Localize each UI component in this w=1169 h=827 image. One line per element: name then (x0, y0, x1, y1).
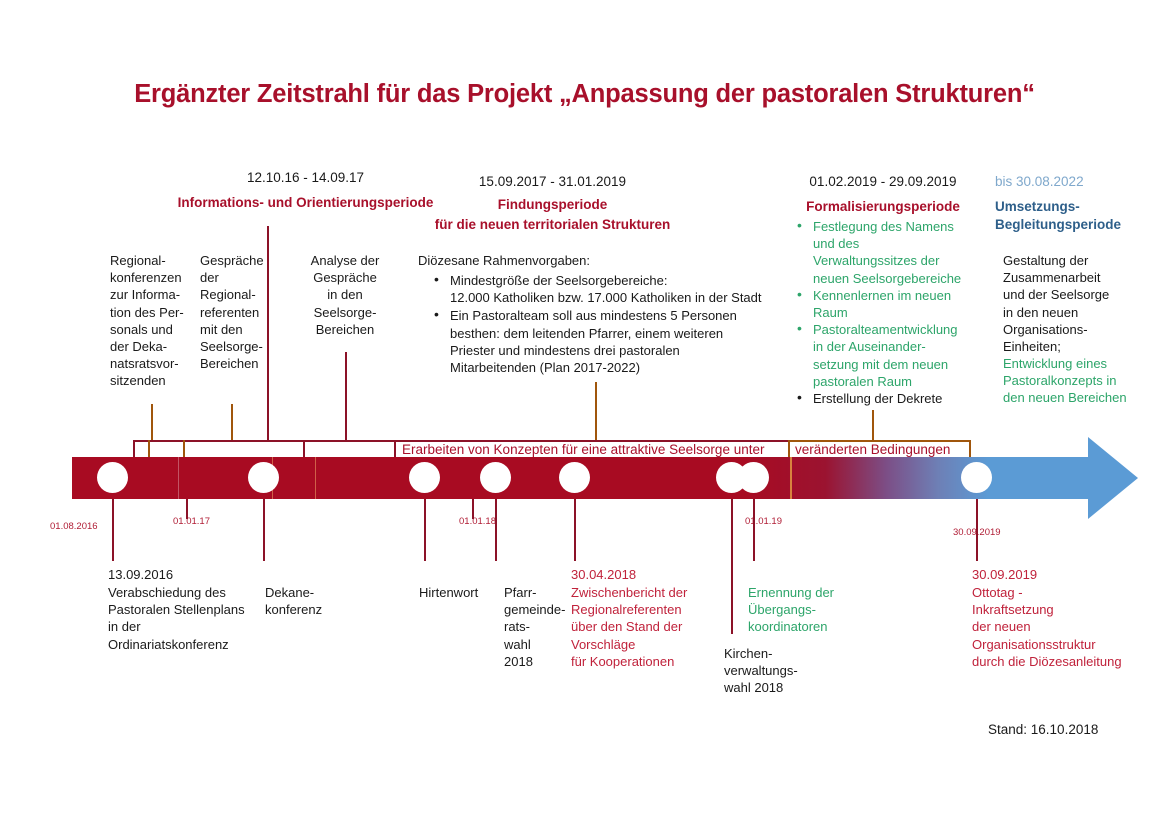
period-2-name-line2: für die neuen territorialen Strukturen (380, 216, 725, 233)
tick-label-2: 01.01.17 (173, 516, 210, 527)
event-6-text: Ernennung der Übergangs- koordinatoren (748, 584, 878, 636)
connector-findung (595, 382, 597, 440)
formalisierung-bullet-list: Festlegung des Namens und des Verwaltung… (793, 218, 983, 407)
leader-line-3 (424, 499, 426, 561)
period-2-range: 15.09.2017 - 31.01.2019 (380, 174, 725, 189)
connector-col1 (151, 404, 153, 440)
period-2-name-line1: Findungsperiode (380, 196, 725, 213)
event-5-text: Zwischenbericht der Regionalreferenten ü… (571, 584, 721, 670)
connector-formalisierung (872, 410, 874, 440)
event-4-text: Pfarr- gemeinde- rats- wahl 2018 (504, 584, 568, 670)
umsetzung-text-black: Gestaltung der Zusammenarbeit und der Se… (1003, 252, 1153, 355)
event-2-text: Dekane- konferenz (265, 584, 345, 618)
event-5-date: 30.04.2018 (571, 566, 741, 583)
formalisierung-bullet-1: Festlegung des Namens und des Verwaltung… (793, 218, 983, 287)
timeline-node-1[interactable] (97, 462, 128, 493)
leader-line-tick-18 (472, 499, 474, 519)
connector-period1-divider (267, 226, 269, 440)
connector-col3 (345, 352, 347, 440)
info-column-3: Analyse der Gespräche in den Seelsorge- … (297, 252, 393, 338)
timeline-node-7[interactable] (738, 462, 769, 493)
footer-stand: Stand: 16.10.2018 (988, 722, 1098, 737)
umsetzung-text-green: Entwicklung eines Pastoralkonzepts in de… (1003, 355, 1153, 407)
event-1-date: 13.09.2016 (108, 566, 258, 583)
period-4-name-line1: Umsetzungs- (995, 198, 1155, 215)
tick-label-1: 01.08.2016 (50, 521, 98, 532)
findung-bullet-1: Mindestgröße der Seelsorgebereiche: 12.0… (430, 272, 790, 306)
timeline-diagram: Ergänzter Zeitstrahl für das Projekt „An… (0, 0, 1169, 827)
formalisierung-bullet-4: Erstellung der Dekrete (793, 390, 983, 407)
leader-line-8 (976, 499, 978, 561)
tick-label-4: 01.01.19 (745, 516, 782, 527)
band-label-left: Erarbeiten von Konzepten für eine attrak… (402, 442, 764, 457)
period-3-name: Formalisierungsperiode (793, 198, 973, 215)
timeline-node-4[interactable] (480, 462, 511, 493)
bar-marker-2016 (178, 457, 179, 499)
timeline-node-3[interactable] (409, 462, 440, 493)
period-3-range: 01.02.2019 - 29.09.2019 (793, 174, 973, 189)
leader-line-1 (112, 499, 114, 561)
leader-line-tick-17 (186, 499, 188, 519)
event-1-text: Verabschiedung des Pastoralen Stellenpla… (108, 584, 264, 653)
event-8-date: 30.09.2019 (972, 566, 1169, 583)
leader-line-2 (263, 499, 265, 561)
timeline-arrow-head (1088, 437, 1138, 519)
leader-line-7 (753, 499, 755, 561)
leader-line-5 (574, 499, 576, 561)
formalisierung-bullet-2: Kennenlernen im neuen Raum (793, 287, 983, 321)
event-7-text: Kirchen- verwaltungs- wahl 2018 (724, 645, 844, 697)
period-4-range: bis 30.08.2022 (995, 174, 1155, 189)
info-column-1: Regional- konferenzen zur Informa- tion … (110, 252, 194, 390)
findung-bullet-list: Mindestgröße der Seelsorgebereiche: 12.0… (430, 272, 790, 376)
info-column-2: Gespräche der Regional- referenten mit d… (200, 252, 272, 372)
bar-marker-c (790, 457, 792, 499)
timeline-node-5[interactable] (559, 462, 590, 493)
leader-line-4 (495, 499, 497, 561)
timeline-node-8[interactable] (961, 462, 992, 493)
formalisierung-bullet-3: Pastoralteamentwicklung in der Auseinand… (793, 321, 983, 390)
band-label-right: veränderten Bedingungen (795, 442, 950, 457)
connector-col2 (231, 404, 233, 440)
timeline-node-2[interactable] (248, 462, 279, 493)
event-8-text: Ottotag - Inkraftsetzung der neuen Organ… (972, 584, 1162, 670)
page-title: Ergänzter Zeitstrahl für das Projekt „An… (0, 80, 1169, 109)
period-4-name-line2: Begleitungsperiode (995, 216, 1155, 233)
event-3-text: Hirtenwort (419, 584, 499, 601)
bar-marker-b (315, 457, 316, 499)
findung-heading: Diözesane Rahmenvorgaben: (418, 252, 788, 269)
findung-bullet-2: Ein Pastoralteam soll aus mindestens 5 P… (430, 307, 790, 376)
tick-label-3: 01.01.18 (459, 516, 496, 527)
